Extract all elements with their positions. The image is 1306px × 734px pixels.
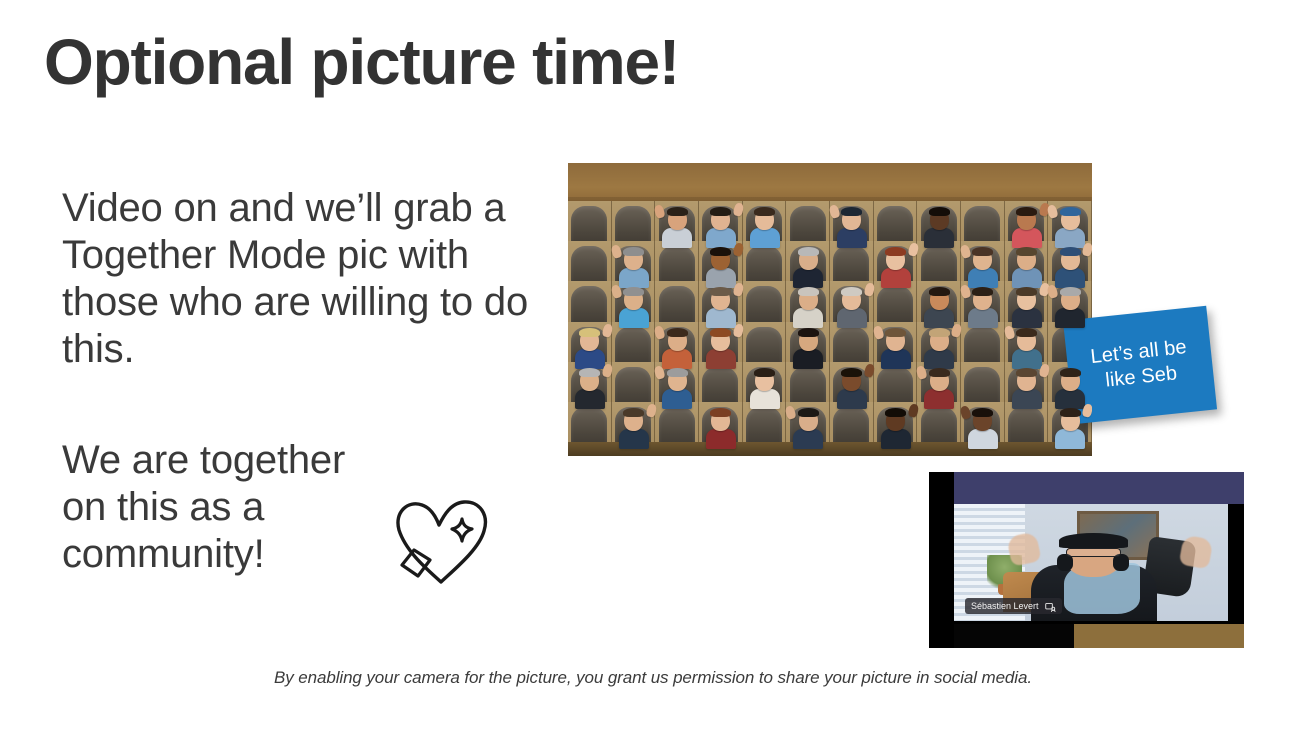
participant-hair	[1016, 328, 1037, 337]
participant-name-chip: Sébastien Levert	[965, 598, 1062, 614]
together-mode-participant	[1055, 289, 1085, 328]
participant-torso	[619, 308, 649, 328]
participant-hair	[798, 408, 819, 417]
participant-hair	[623, 247, 644, 256]
participant-head	[886, 330, 905, 351]
participant-head	[1061, 370, 1080, 391]
participant-torso	[750, 389, 780, 409]
participant-head	[842, 209, 861, 230]
participant-hair	[710, 207, 731, 216]
together-mode-participant	[1012, 370, 1042, 409]
teams-video-stage: Sébastien Levert	[954, 504, 1228, 621]
participant-torso	[924, 308, 954, 328]
participant-torso	[881, 268, 911, 288]
participant-hair	[623, 287, 644, 296]
headphone-left-cup	[1057, 554, 1073, 570]
participant-cap	[1059, 533, 1128, 548]
participant-torso	[793, 268, 823, 288]
participant-head	[1061, 289, 1080, 310]
participant-hair	[1060, 247, 1081, 256]
participant-hair	[929, 287, 950, 296]
together-mode-participant	[575, 370, 605, 409]
participant-head	[1017, 249, 1036, 270]
participant-torso	[575, 389, 605, 409]
glasses-icon	[1066, 548, 1121, 556]
participant-head	[1061, 410, 1080, 431]
participant-head	[886, 410, 905, 431]
together-mode-participant	[706, 289, 736, 328]
together-mode-participant	[1012, 330, 1042, 369]
callout-note-text: Let’s all be like Seb	[1066, 333, 1214, 398]
participant-head	[624, 289, 643, 310]
together-mode-participant	[706, 330, 736, 369]
together-mode-participant	[968, 410, 998, 449]
participant-torso	[1012, 389, 1042, 409]
participant-head	[1061, 249, 1080, 270]
participant-hair	[579, 368, 600, 377]
participant-torso	[619, 268, 649, 288]
together-mode-participant	[706, 209, 736, 248]
participant-torso	[837, 308, 867, 328]
participant-hair	[1060, 368, 1081, 377]
participant-head	[668, 370, 687, 391]
participant-torso	[881, 429, 911, 449]
participant-hair	[798, 247, 819, 256]
participant-torso	[793, 349, 823, 369]
participant-hair	[579, 328, 600, 337]
together-mode-participant	[706, 410, 736, 449]
together-mode-participant	[881, 249, 911, 288]
participant-hair	[929, 328, 950, 337]
participant-hair	[798, 287, 819, 296]
participant-hair	[972, 247, 993, 256]
participant-torso	[924, 389, 954, 409]
participant-torso	[924, 349, 954, 369]
participant-head	[624, 410, 643, 431]
page-title: Optional picture time!	[44, 27, 679, 97]
participant-hair	[841, 287, 862, 296]
participant-head	[1017, 370, 1036, 391]
participant-torso	[619, 429, 649, 449]
participant-torso	[1012, 349, 1042, 369]
participant-hair	[754, 368, 775, 377]
together-mode-participant	[968, 249, 998, 288]
together-mode-participant	[793, 330, 823, 369]
participant-torso	[968, 429, 998, 449]
participant-hair	[841, 207, 862, 216]
participant-hair	[754, 207, 775, 216]
together-mode-participant	[662, 209, 692, 248]
participant-name-label: Sébastien Levert	[971, 600, 1039, 612]
together-mode-participant	[1012, 289, 1042, 328]
participant-head	[580, 330, 599, 351]
participant-torso	[706, 228, 736, 248]
participant-torso	[793, 308, 823, 328]
participant-hair	[1016, 368, 1037, 377]
participant-head	[842, 289, 861, 310]
together-mode-participant	[924, 330, 954, 369]
participant-hair	[972, 408, 993, 417]
participant-head	[1017, 209, 1036, 230]
participant-head	[624, 249, 643, 270]
participant-head	[930, 209, 949, 230]
headphone-right-cup	[1113, 554, 1129, 570]
teams-topbar	[954, 472, 1244, 504]
participant-hair	[798, 328, 819, 337]
participant-hair	[885, 408, 906, 417]
participant-head	[668, 209, 687, 230]
participant-head	[930, 330, 949, 351]
waving-hand-right	[1179, 534, 1214, 569]
participant-torso	[1055, 228, 1085, 248]
participant-hair	[710, 247, 731, 256]
participant-head	[973, 410, 992, 431]
together-mode-participant	[793, 289, 823, 328]
together-mode-participant	[1055, 249, 1085, 288]
participant-head	[755, 370, 774, 391]
participant-torso	[706, 429, 736, 449]
together-mode-image	[568, 163, 1092, 456]
participant-hair	[1016, 207, 1037, 216]
together-mode-participant	[793, 410, 823, 449]
participant-hair	[667, 328, 688, 337]
together-mode-participant	[1012, 249, 1042, 288]
participant-hair	[929, 207, 950, 216]
together-mode-participant	[619, 410, 649, 449]
participant-head	[799, 330, 818, 351]
participant-head	[711, 249, 730, 270]
together-mode-participant	[619, 289, 649, 328]
heart-doodle-icon	[384, 492, 496, 592]
participant-torso	[575, 349, 605, 369]
participant-torso	[1012, 228, 1042, 248]
participant-hair	[710, 408, 731, 417]
together-mode-participant	[924, 289, 954, 328]
together-mode-participant	[881, 330, 911, 369]
participant-head	[711, 330, 730, 351]
together-mode-participant	[662, 370, 692, 409]
participant-head	[1017, 330, 1036, 351]
together-mode-participant	[837, 370, 867, 409]
participant-torso	[1055, 389, 1085, 409]
participant-hair	[972, 287, 993, 296]
together-mode-participant	[881, 410, 911, 449]
participant-head	[973, 289, 992, 310]
participant-head	[799, 289, 818, 310]
together-mode-participant	[662, 330, 692, 369]
participant-head	[668, 330, 687, 351]
body-paragraph-2: We are together on this as a community!	[62, 437, 392, 578]
participant-torso	[881, 349, 911, 369]
participant-hair	[841, 368, 862, 377]
together-mode-participant	[750, 370, 780, 409]
participant-torso	[706, 349, 736, 369]
participant-hair	[885, 328, 906, 337]
participant-head	[711, 289, 730, 310]
participant-head	[973, 249, 992, 270]
participant-torso	[662, 228, 692, 248]
participant-head	[580, 370, 599, 391]
participant-hair	[623, 408, 644, 417]
participant-head	[799, 249, 818, 270]
thumbnail-bottom-tan-strip	[1074, 624, 1244, 648]
participant-head	[930, 289, 949, 310]
participant-hair	[1060, 408, 1081, 417]
participant-hair	[929, 368, 950, 377]
teams-video-thumbnail[interactable]: Sébastien Levert	[929, 472, 1244, 648]
together-mode-participant	[924, 370, 954, 409]
together-mode-participant	[1055, 209, 1085, 248]
participant-head	[711, 209, 730, 230]
participant-hair	[885, 247, 906, 256]
participant-torso	[837, 389, 867, 409]
together-mode-participant	[837, 289, 867, 328]
together-mode-participant	[575, 330, 605, 369]
participant-head	[799, 410, 818, 431]
participant-torso	[924, 228, 954, 248]
participant-head	[711, 410, 730, 431]
participant-torso	[968, 268, 998, 288]
together-mode-participant	[1055, 410, 1085, 449]
participant-torso	[1055, 268, 1085, 288]
together-mode-participant	[1055, 370, 1085, 409]
participant-torso	[1055, 308, 1085, 328]
together-mode-participant	[968, 289, 998, 328]
participant-hair	[667, 368, 688, 377]
participant-torso	[662, 349, 692, 369]
participant-torso	[1012, 308, 1042, 328]
participant-hair	[1060, 207, 1081, 216]
participant-hair	[710, 287, 731, 296]
together-mode-participant	[1012, 209, 1042, 248]
participant-hair	[1016, 287, 1037, 296]
body-paragraph-1: Video on and we’ll grab a Together Mode …	[62, 185, 532, 373]
participant-torso	[968, 308, 998, 328]
participant-torso	[1055, 429, 1085, 449]
pinned-participant-icon	[1045, 600, 1056, 611]
participant-torso	[837, 228, 867, 248]
participant-hair	[667, 207, 688, 216]
footer-disclaimer: By enabling your camera for the picture,…	[0, 668, 1306, 688]
together-mode-participant	[793, 249, 823, 288]
together-mode-participant	[619, 249, 649, 288]
participant-torso	[706, 308, 736, 328]
participant-torso	[1012, 268, 1042, 288]
participant-torso	[662, 389, 692, 409]
thumbnail-bottom-black-strip	[954, 624, 1074, 648]
together-mode-participant	[837, 209, 867, 248]
participant-head	[930, 370, 949, 391]
participant-torso	[706, 268, 736, 288]
participant-hair	[1060, 287, 1081, 296]
together-mode-participant	[706, 249, 736, 288]
participant-head	[886, 249, 905, 270]
together-mode-participant	[924, 209, 954, 248]
participant-head	[1017, 289, 1036, 310]
participant-head	[755, 209, 774, 230]
participant-torso	[750, 228, 780, 248]
participant-head	[1061, 209, 1080, 230]
together-mode-participant	[750, 209, 780, 248]
participant-hair	[710, 328, 731, 337]
participant-torso	[793, 429, 823, 449]
participant-hair	[1016, 247, 1037, 256]
participant-head	[842, 370, 861, 391]
